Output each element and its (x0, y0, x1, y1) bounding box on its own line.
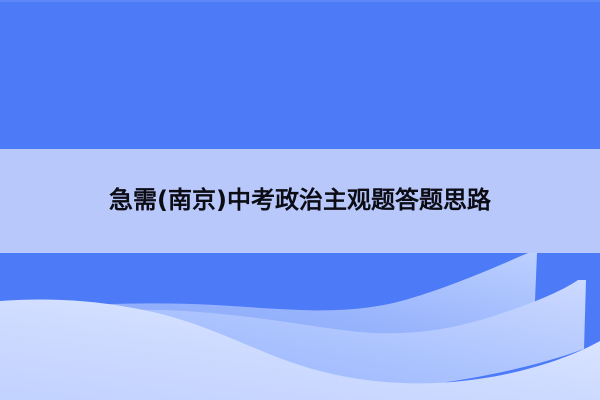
top-blue-panel (0, 0, 600, 149)
wave-graphic (0, 253, 600, 400)
page-title: 急需(南京)中考政治主观题答题思路 (109, 188, 491, 214)
cover-image: 急需(南京)中考政治主观题答题思路 (0, 0, 600, 400)
top-edge-hairline (0, 0, 600, 2)
wave-decoration-panel (0, 253, 600, 400)
title-band: 急需(南京)中考政治主观题答题思路 (0, 149, 600, 253)
